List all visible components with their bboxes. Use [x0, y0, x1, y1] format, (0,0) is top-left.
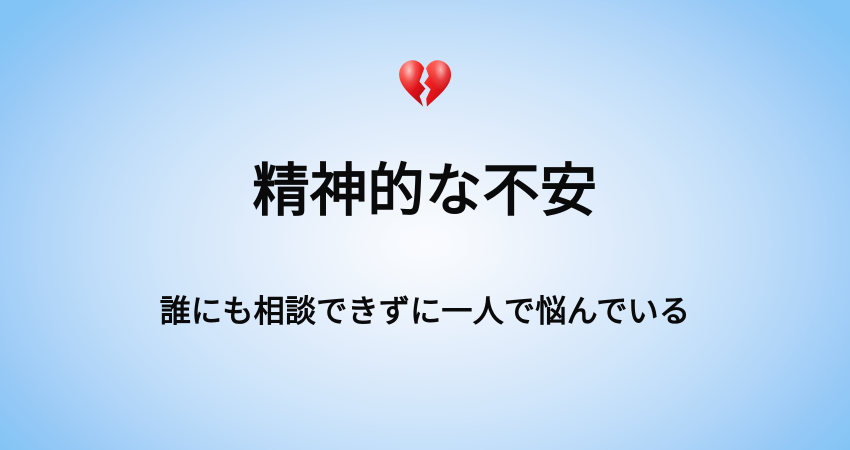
slide-content: 精神的な不安 誰にも相談できずに一人で悩んでいる [0, 0, 850, 450]
slide-canvas: 精神的な不安 誰にも相談できずに一人で悩んでいる [0, 0, 850, 450]
slide-subtitle: 誰にも相談できずに一人で悩んでいる [0, 291, 850, 333]
heart-half-right [424, 60, 451, 106]
slide-title: 精神的な不安 [0, 158, 850, 224]
broken-heart-icon [393, 54, 457, 118]
heart-half-left [399, 60, 425, 106]
